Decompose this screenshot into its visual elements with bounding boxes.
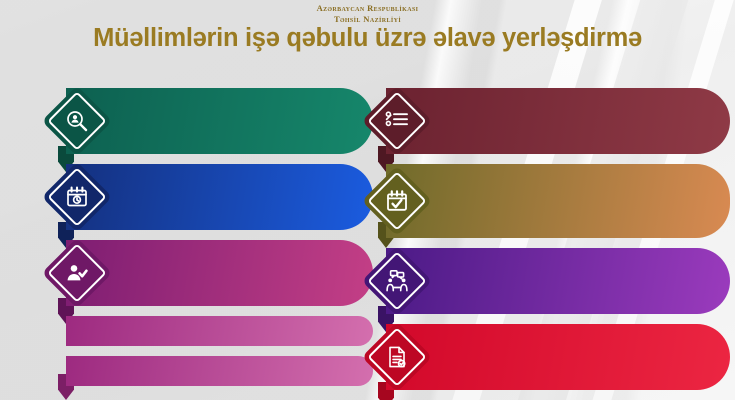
left-column: Avqustun 28-də müəllimlərin işə qəbulu ü… [58,88,373,396]
right-card-3: Müsahibə zamanı uğur qazanmış namizədlər… [378,324,730,390]
left-card-0: Avqustun 28-də müəllimlərin işə qəbulu ü… [58,88,373,154]
card-body [66,316,373,346]
right-card-2: Elektron yerləşdirilmə zamanı vakant yer… [378,248,730,314]
left-sub-card-3: - Vakansiya seçimi etməyən; [58,316,373,346]
left-card-2: Bu mərhələdə aşağıdakı namizədlər iştira… [58,240,373,306]
card-icon-badge [42,238,113,309]
card-body [66,88,373,154]
card-body [386,248,730,314]
person-search-icon [52,96,102,146]
card-icon-badge [42,86,113,157]
ministry-line-1: Azərbaycan Respublikası [0,3,735,14]
ministry-header: Azərbaycan Respublikası Təhsil Nazirliyi [0,3,735,26]
card-body [66,240,373,306]
calendar-clock-icon [52,172,102,222]
contract-document-icon [372,332,422,382]
card-body [386,324,730,390]
interview-icon [372,256,422,306]
card-body [386,88,730,154]
person-check-icon [52,248,102,298]
left-sub-card-4: - Vakansiya seçimi edib elektron ərizəsi… [58,356,373,386]
page-title: Müəllimlərin işə qəbulu üzrə əlavə yerlə… [0,26,735,52]
right-column: Namizədlər elektron ərizələrində səkkiz … [378,88,730,400]
card-icon-badge [362,246,433,317]
checklist-icon [372,96,422,146]
card-body [386,164,730,238]
card-icon-badge [362,166,433,237]
right-card-0: Namizədlər elektron ərizələrində səkkiz … [378,88,730,154]
card-icon-badge [42,162,113,233]
card-icon-badge [362,86,433,157]
card-body [66,164,373,230]
left-card-1: Vakansiya seçimi 29 avqust saat 23:59-də… [58,164,373,230]
right-card-1: Vakansiya seçimindən sonra test imtahanı… [378,164,730,238]
calendar-check-icon [372,176,422,226]
card-body [66,356,373,386]
card-icon-badge [362,322,433,393]
